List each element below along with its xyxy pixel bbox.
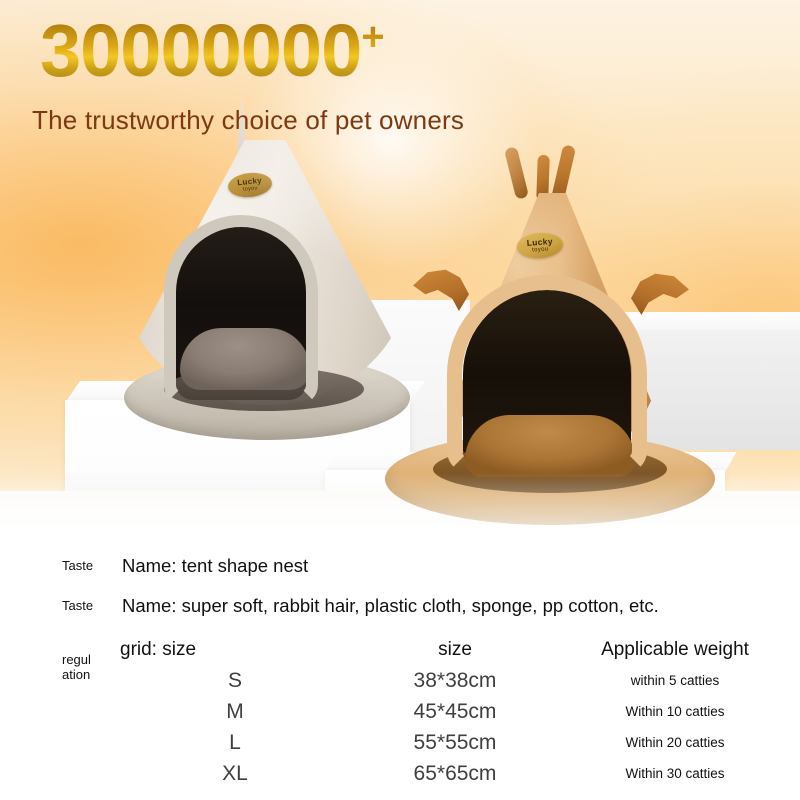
spec-key-regulation-line2: ation <box>62 668 114 683</box>
grey-tent-opening-trim <box>164 215 318 405</box>
spec-key-taste-2: Taste <box>62 599 122 614</box>
brand-badge-line2: toyou <box>243 186 258 193</box>
product-banner-page: Lucky toyou Lucky toyou 300 <box>0 0 800 800</box>
size-dimensions: 65*65cm <box>350 762 560 786</box>
size-dimensions: 38*38cm <box>350 669 560 693</box>
spec-key-regulation: regul ation <box>62 653 114 683</box>
specification-table: Taste Name: tent shape nest Taste Name: … <box>0 543 800 800</box>
headline-subtitle: The trustworthy choice of pet owners <box>32 105 464 136</box>
size-chart-header-size: size <box>350 639 560 661</box>
size-chart-header: grid: size size Applicable weight <box>120 639 800 661</box>
spec-key-regulation-line1: regul <box>62 653 114 668</box>
size-weight: Within 30 catties <box>560 766 790 781</box>
brand-badge-line1: Lucky <box>526 237 553 247</box>
spec-value-product-name: Name: tent shape nest <box>122 555 308 577</box>
headline-plus-sign: + <box>361 15 383 59</box>
headline-count: 30000000+ <box>40 14 384 88</box>
size-weight: Within 20 catties <box>560 735 790 750</box>
size-chart-body: S 38*38cm within 5 catties M 45*45cm Wit… <box>120 665 800 789</box>
size-code: M <box>120 700 350 724</box>
size-chart-row: M 45*45cm Within 10 catties <box>120 696 800 727</box>
size-dimensions: 55*55cm <box>350 731 560 755</box>
size-chart-row: XL 65*65cm Within 30 catties <box>120 758 800 789</box>
size-chart-row: L 55*55cm Within 20 catties <box>120 727 800 758</box>
size-code: XL <box>120 762 350 786</box>
spec-key-taste-1: Taste <box>62 559 122 574</box>
size-chart: grid: size size Applicable weight S 38*3… <box>120 639 800 789</box>
tan-tent-opening-trim <box>447 275 647 473</box>
antler-prong-top-1 <box>504 146 529 200</box>
size-code: S <box>120 669 350 693</box>
brand-badge-line2: toyou <box>532 247 549 254</box>
size-weight: within 5 catties <box>560 673 790 688</box>
hero-product-photo: Lucky toyou Lucky toyou 300 <box>0 0 800 543</box>
antler-side-right-icon <box>631 271 689 315</box>
size-chart-header-weight: Applicable weight <box>560 639 790 661</box>
size-code: L <box>120 731 350 755</box>
size-weight: Within 10 catties <box>560 704 790 719</box>
headline-number: 30000000 <box>40 9 361 92</box>
product-tan-antler-tent-bed: Lucky toyou <box>385 145 715 505</box>
product-grey-cream-tent-bed: Lucky toyou <box>120 95 410 415</box>
spec-row-material: Taste Name: super soft, rabbit hair, pla… <box>62 595 659 617</box>
size-dimensions: 45*45cm <box>350 700 560 724</box>
antler-side-left-icon <box>413 267 469 311</box>
size-chart-row: S 38*38cm within 5 catties <box>120 665 800 696</box>
size-chart-header-grid: grid: size <box>120 639 350 661</box>
spec-row-product-name: Taste Name: tent shape nest <box>62 555 308 577</box>
spec-value-material: Name: super soft, rabbit hair, plastic c… <box>122 595 659 617</box>
